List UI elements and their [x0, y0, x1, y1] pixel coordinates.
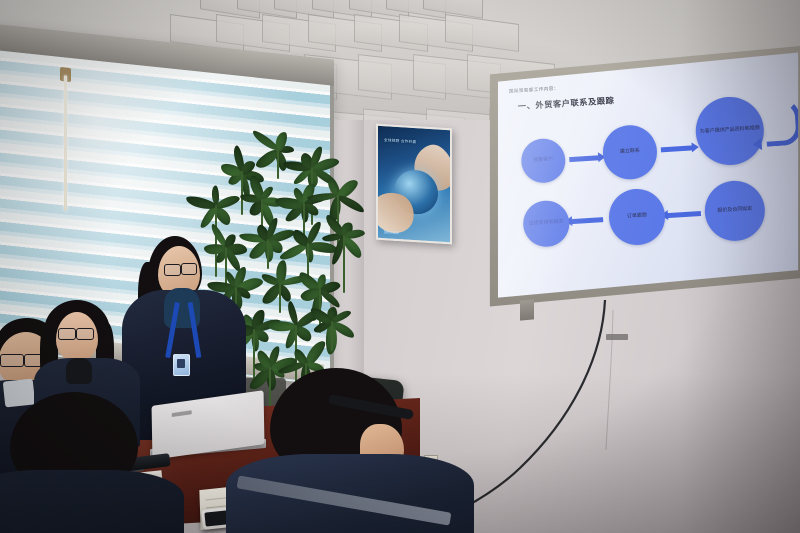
slide-header: 国际贸易部工作内容：: [509, 86, 559, 95]
plant-stem: [279, 283, 281, 313]
flow-node-6: 出货安排和报关: [522, 199, 571, 248]
plant-stem: [331, 321, 333, 351]
meeting-room-photo: 全球视野 合作共赢 国际贸易部 国际贸易部工作内容： 一、外贸客户联系及跟踪 搜…: [0, 0, 800, 533]
plant-stem: [267, 239, 269, 269]
presenter-glasses-left: [164, 264, 181, 276]
presenter-glasses-right: [181, 263, 197, 275]
plant-stem: [241, 171, 243, 215]
attendee3-jacket: [0, 470, 184, 533]
flow-node-5: 订单跟踪: [607, 187, 666, 246]
flow-node-2: 建立联系: [601, 124, 658, 181]
flow-arrow-1-2: [569, 155, 599, 162]
flow-arrow-5-6: [571, 217, 603, 224]
flow-node-1: 搜集客户: [520, 137, 567, 184]
attendee-left-foreground: [0, 392, 180, 533]
attendee2-glasses-left: [58, 328, 76, 340]
poster-footer: 国际贸易部: [384, 230, 399, 235]
plant-stem: [277, 149, 279, 179]
poster-title: 全球视野 合作共赢: [384, 138, 416, 145]
wall-poster: 全球视野 合作共赢 国际贸易部: [376, 124, 452, 245]
slide-section-title: 一、外贸客户联系及跟踪: [517, 94, 614, 112]
blind-pull-cord[interactable]: [64, 75, 67, 210]
attendee2-top: [66, 358, 92, 384]
plant-stem: [343, 235, 345, 293]
attendee2-glasses-right: [76, 328, 94, 340]
attendee-center-foreground: [232, 368, 462, 533]
attendee1-glasses-left: [0, 354, 24, 367]
